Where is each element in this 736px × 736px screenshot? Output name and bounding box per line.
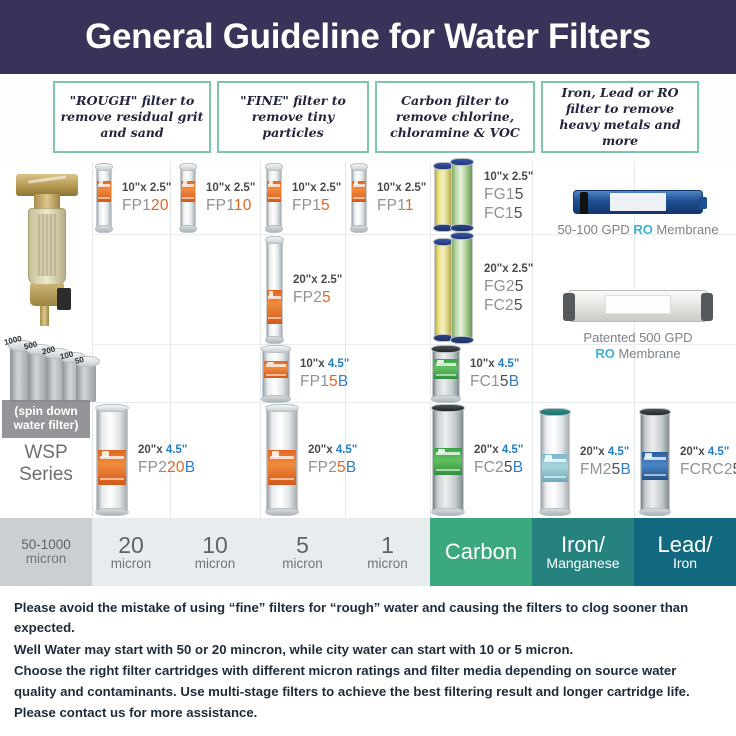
- spin-down-brass-head: [16, 174, 78, 196]
- cell-fp110[interactable]: 10"x 2.5" FP110: [180, 164, 255, 232]
- sku-fp25b: FP25B: [308, 458, 357, 477]
- sku-fc15: FC15: [484, 204, 533, 223]
- ro-small-text-b: Membrane: [653, 222, 719, 237]
- cartridge-fp110-image: [180, 167, 196, 229]
- micron-value-iron: Iron/: [561, 533, 605, 556]
- cell-fp15b[interactable]: 10"x 4.5" FP15B: [262, 348, 349, 400]
- cell-fp25[interactable]: 20"x 2.5" FP25: [266, 238, 342, 342]
- micron-cell-carbon[interactable]: Carbon: [430, 518, 532, 586]
- micron-value-1: 1: [381, 533, 394, 557]
- micron-unit-wsp: micron: [26, 552, 67, 566]
- filter-grid: 1000 500 200 100 50 (spin down water fil…: [0, 162, 736, 518]
- sku-fg15: FG15: [484, 185, 533, 204]
- wsp-series-label: WSP Series: [0, 442, 92, 486]
- sku-fcrc25b: FCRC25B: [680, 460, 736, 479]
- micron-value-lead: Lead/: [657, 533, 712, 556]
- sku-fm25b: FM25B: [580, 460, 631, 479]
- note-1: Please avoid the mistake of using “fine”…: [14, 598, 722, 639]
- micron-cell-wsp[interactable]: 50-1000 micron: [0, 518, 92, 586]
- wsp-series-line1: WSP: [0, 442, 92, 464]
- cartridge-fp11-image: [351, 167, 367, 229]
- sku-fp120: FP120: [122, 196, 171, 215]
- title-bar: General Guideline for Water Filters: [0, 0, 736, 74]
- category-box-carbon: Carbon filter to remove chlorine, chlora…: [375, 81, 535, 153]
- category-label-carbon: Carbon filter to remove chlorine, chlora…: [381, 93, 529, 141]
- grid-divider-v4: [430, 162, 431, 518]
- cartridge-fp25-image: [266, 240, 283, 340]
- micron-rating-bar: 50-1000 micron 20 micron 10 micron 5 mic…: [0, 518, 736, 586]
- micron-unit-5: micron: [282, 557, 323, 571]
- sku-fc25: FC25: [484, 296, 533, 315]
- micron-unit-manganese: Manganese: [546, 556, 619, 571]
- cell-fp220b[interactable]: 20"x 4.5" FP220B: [96, 406, 195, 514]
- dim-fp25: 20"x 2.5": [293, 273, 342, 287]
- dim-fp11: 10"x 2.5": [377, 181, 426, 195]
- dim-fcrc25b: 20"x 4.5": [680, 445, 736, 459]
- cell-fp11[interactable]: 10"x 2.5" FP11: [351, 164, 426, 232]
- cell-fp120[interactable]: 10"x 2.5" FP120: [96, 164, 171, 232]
- category-box-fine: "FINE" filter to remove tiny particles: [217, 81, 369, 153]
- micron-cell-20[interactable]: 20 micron: [92, 518, 170, 586]
- sku-fp220b: FP220B: [138, 458, 195, 477]
- grid-divider-v0: [92, 162, 93, 518]
- cell-fcrc25b[interactable]: 20"x 4.5" FCRC25B: [640, 410, 736, 514]
- cartridge-fm25b-image: [540, 412, 570, 512]
- cell-fg25-fc25[interactable]: 20"x 2.5" FG25 FC25: [434, 234, 533, 344]
- dim-fp15b: 10"x 4.5": [300, 357, 349, 371]
- note-4: Please contact us for more assistance.: [14, 703, 722, 723]
- micron-value-20: 20: [118, 533, 144, 557]
- cartridge-fcrc25b-image: [640, 412, 670, 512]
- dim-fm25b: 20"x 4.5": [580, 445, 631, 459]
- category-box-rough: "ROUGH" filter to remove residual grit a…: [53, 81, 211, 153]
- mesh-screen-50: [76, 362, 96, 402]
- dim-fp220b: 20"x 4.5": [138, 443, 195, 457]
- wsp-series-line2: Series: [0, 464, 92, 486]
- cartridge-fp25b-image: [266, 408, 298, 512]
- micron-unit-10: micron: [195, 557, 236, 571]
- spin-down-overlay-text: (spin down water filter): [2, 405, 90, 433]
- category-bar: "ROUGH" filter to remove residual grit a…: [0, 74, 736, 162]
- ro-membrane-large-caption: Patented 500 GPD RO Membrane: [583, 330, 692, 363]
- ro-membrane-large[interactable]: Patented 500 GPD RO Membrane: [543, 290, 733, 363]
- cartridge-fc25b-image: [432, 408, 464, 512]
- dim-fp25b: 20"x 4.5": [308, 443, 357, 457]
- dim-fc25b: 20"x 4.5": [474, 443, 523, 457]
- cell-fc15b[interactable]: 10"x 4.5" FC15B: [432, 348, 519, 400]
- micron-value-5: 5: [296, 533, 309, 557]
- spin-down-flush-valve: [57, 288, 71, 310]
- mesh-screen-1000: [10, 346, 30, 402]
- ro-membrane-small-image: [573, 190, 703, 214]
- cell-fp25b[interactable]: 20"x 4.5" FP25B: [266, 406, 357, 514]
- micron-cell-1[interactable]: 1 micron: [345, 518, 430, 586]
- micron-cell-lead-iron[interactable]: Lead/ Iron: [634, 518, 736, 586]
- dim-fp120: 10"x 2.5": [122, 181, 171, 195]
- cartridge-fp220b-image: [96, 408, 128, 512]
- micron-value-wsp: 50-1000: [21, 538, 71, 552]
- sku-fp15b: FP15B: [300, 372, 349, 391]
- category-label-fine: "FINE" filter to remove tiny particles: [223, 93, 363, 141]
- sku-fp25: FP25: [293, 288, 342, 307]
- dim-fp110: 10"x 2.5": [206, 181, 255, 195]
- category-label-iron-lead-ro: Iron, Lead or RO filter to remove heavy …: [547, 85, 693, 149]
- grid-divider-h3: [92, 402, 736, 403]
- spin-down-drain-spout: [40, 306, 49, 326]
- category-label-rough: "ROUGH" filter to remove residual grit a…: [59, 93, 205, 141]
- note-3: Choose the right filter cartridges with …: [14, 661, 722, 702]
- ro-small-text-ro: RO: [633, 222, 653, 237]
- sku-fp15: FP15: [292, 196, 341, 215]
- cartridge-fp120-image: [96, 167, 112, 229]
- micron-unit-20: micron: [111, 557, 152, 571]
- category-box-iron-lead-ro: Iron, Lead or RO filter to remove heavy …: [541, 81, 699, 153]
- cartridge-fp15-image: [266, 167, 282, 229]
- sku-fc25b: FC25B: [474, 458, 523, 477]
- cell-fc25b[interactable]: 20"x 4.5" FC25B: [432, 406, 523, 514]
- cell-fm25b[interactable]: 20"x 4.5" FM25B: [540, 410, 631, 514]
- micron-cell-10[interactable]: 10 micron: [170, 518, 260, 586]
- sku-fp11: FP11: [377, 196, 426, 215]
- dim-fc15b: 10"x 4.5": [470, 357, 519, 371]
- spin-down-filter-image: [10, 164, 84, 332]
- ro-membrane-small[interactable]: 50-100 GPD RO Membrane: [548, 190, 728, 238]
- spin-down-overlay-label: (spin down water filter): [2, 400, 90, 438]
- mesh-screen-cluster: 1000 500 200 100 50: [2, 334, 92, 406]
- spin-down-mesh-screen: [36, 214, 58, 276]
- sku-fg25: FG25: [484, 277, 533, 296]
- sku-fp110: FP110: [206, 196, 255, 215]
- micron-value-10: 10: [202, 533, 228, 557]
- ro-membrane-small-caption: 50-100 GPD RO Membrane: [557, 222, 718, 238]
- ro-large-text-a: Patented 500 GPD: [583, 330, 692, 346]
- wsp-column: 1000 500 200 100 50 (spin down water fil…: [0, 162, 92, 518]
- note-2: Well Water may start with 50 or 20 mincr…: [14, 640, 722, 660]
- ro-large-text-b: Membrane: [615, 346, 681, 361]
- grid-divider-v2: [260, 162, 261, 518]
- micron-unit-1: micron: [367, 557, 408, 571]
- notes-section: Please avoid the mistake of using “fine”…: [0, 586, 736, 724]
- dim-fg25: 20"x 2.5": [484, 262, 533, 276]
- dim-fp15: 10"x 2.5": [292, 181, 341, 195]
- micron-cell-iron-manganese[interactable]: Iron/ Manganese: [532, 518, 634, 586]
- micron-cell-5[interactable]: 5 micron: [260, 518, 345, 586]
- cartridge-fc15-image: [451, 162, 473, 228]
- cell-fg15-fc15[interactable]: 10"x 2.5" FG15 FC15: [434, 160, 533, 234]
- page-title: General Guideline for Water Filters: [85, 17, 651, 57]
- cartridge-fc15b-image: [432, 349, 460, 399]
- micron-unit-iron: Iron: [673, 556, 697, 571]
- cartridge-fp15b-image: [262, 349, 290, 399]
- sku-fc15b: FC15B: [470, 372, 519, 391]
- ro-membrane-large-image: [568, 290, 708, 322]
- cell-fp15[interactable]: 10"x 2.5" FP15: [266, 164, 341, 232]
- dim-fg15: 10"x 2.5": [484, 170, 533, 184]
- mesh-screen-500: [28, 350, 48, 402]
- micron-value-carbon: Carbon: [445, 540, 517, 563]
- ro-small-text-a: 50-100 GPD: [557, 222, 633, 237]
- ro-large-text-ro: RO: [595, 346, 615, 361]
- cartridge-fc25-image: [451, 236, 473, 340]
